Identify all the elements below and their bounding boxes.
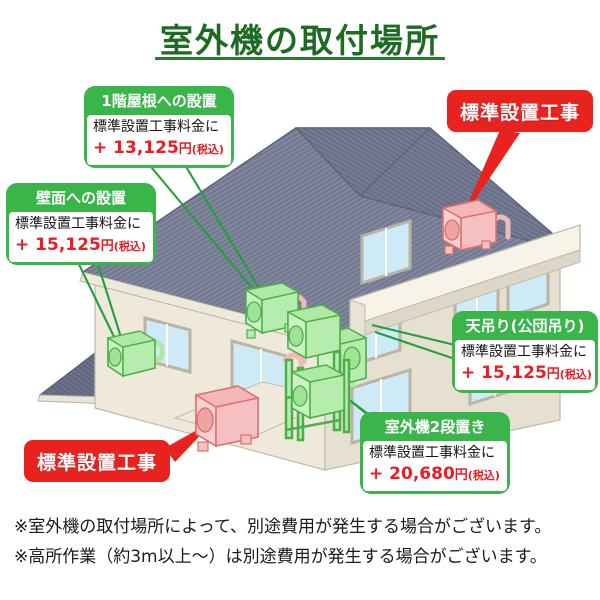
- price-yen: 円: [455, 468, 468, 483]
- callout-two-tier-price: + 20,680円(税込): [369, 463, 501, 487]
- callout-two-tier-header: 室外機2段置き: [363, 415, 507, 441]
- infographic-root: 室外機の取付場所: [0, 0, 600, 600]
- price-prefix: +: [93, 138, 107, 158]
- price-amount: 13,125: [113, 138, 179, 158]
- price-amount: 15,125: [35, 235, 101, 255]
- footer-note-1: ※室外機の取付場所によって、別途費用が発生する場合がございます。: [14, 512, 594, 542]
- price-tax: (税込): [468, 469, 500, 482]
- footer-notes: ※室外機の取付場所によって、別途費用が発生する場合がございます。 ※高所作業（約…: [14, 512, 594, 572]
- callout-wall-price: + 15,125円(税込): [15, 234, 147, 258]
- callout-two-tier-line1: 標準設置工事料金に: [369, 444, 501, 463]
- outdoor-unit-ground-standard: [196, 386, 258, 451]
- callout-roof-1f-header: 1階屋根への設置: [87, 89, 231, 115]
- callout-ceiling-hang-header: 天吊り(公団吊り): [455, 314, 595, 340]
- price-yen: 円: [547, 367, 560, 382]
- outdoor-unit-wall: [108, 331, 155, 376]
- callout-roof-1f-price: + 13,125円(税込): [93, 137, 225, 161]
- outdoor-unit-balcony-standard: [443, 200, 496, 254]
- price-amount: 20,680: [389, 464, 455, 484]
- callout-wall-line1: 標準設置工事料金に: [15, 215, 147, 234]
- callout-two-tier[interactable]: 室外機2段置き 標準設置工事料金に + 20,680円(税込): [360, 412, 510, 494]
- badge-standard-install-bottom-label: 標準設置工事: [37, 448, 157, 475]
- footer-note-2: ※高所作業（約3m以上～）は別途費用が発生する場合がございます。: [14, 542, 594, 572]
- badge-standard-install-top-label: 標準設置工事: [460, 98, 580, 125]
- callout-roof-1f[interactable]: 1階屋根への設置 標準設置工事料金に + 13,125円(税込): [84, 86, 234, 168]
- price-amount: 15,125: [481, 363, 547, 383]
- callout-roof-1f-line1: 標準設置工事料金に: [93, 118, 225, 137]
- price-tax: (税込): [192, 143, 224, 156]
- price-tax: (税込): [114, 240, 146, 253]
- price-prefix: +: [369, 464, 383, 484]
- callout-ceiling-hang[interactable]: 天吊り(公団吊り) 標準設置工事料金に + 15,125円(税込): [452, 311, 598, 393]
- price-prefix: +: [15, 235, 29, 255]
- price-yen: 円: [101, 239, 114, 254]
- callout-wall[interactable]: 壁面への設置 標準設置工事料金に + 15,125円(税込): [6, 183, 156, 265]
- price-prefix: +: [461, 363, 475, 383]
- callout-ceiling-hang-price: + 15,125円(税込): [461, 362, 589, 386]
- callout-wall-header: 壁面への設置: [9, 186, 153, 212]
- callout-ceiling-hang-line1: 標準設置工事料金に: [461, 343, 589, 362]
- badge-standard-install-bottom[interactable]: 標準設置工事: [24, 440, 170, 482]
- badge-standard-install-top[interactable]: 標準設置工事: [447, 90, 593, 132]
- price-tax: (税込): [560, 368, 592, 381]
- price-yen: 円: [179, 142, 192, 157]
